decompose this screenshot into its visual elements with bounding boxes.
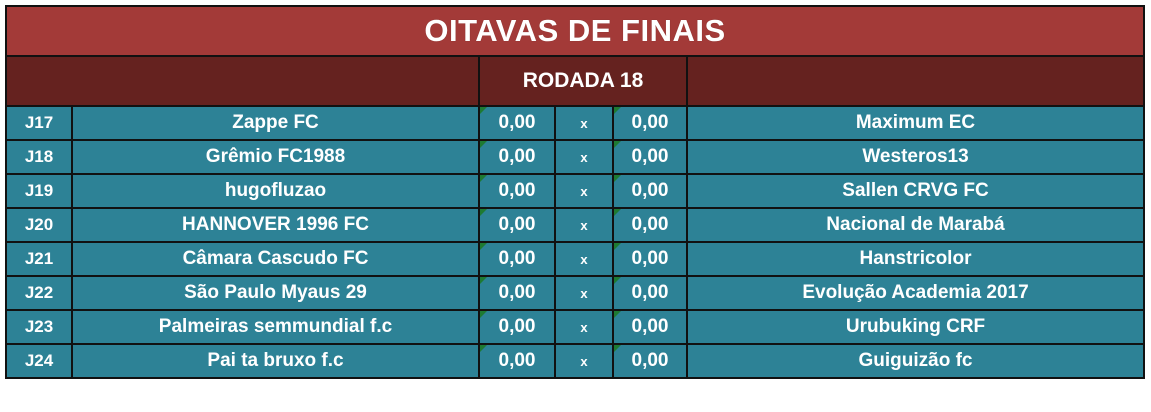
away-score-cell[interactable]: 0,00	[613, 140, 687, 174]
score-value: 0,00	[632, 282, 669, 303]
away-team-name: Urubuking CRF	[687, 310, 1144, 344]
score-value: 0,00	[632, 214, 669, 235]
home-score-cell[interactable]: 0,00	[479, 140, 555, 174]
cell-error-flag-icon	[480, 107, 487, 114]
cell-error-flag-icon	[614, 243, 621, 250]
away-score-cell[interactable]: 0,00	[613, 276, 687, 310]
match-code: J19	[6, 174, 72, 208]
match-code: J20	[6, 208, 72, 242]
versus-separator: x	[555, 106, 613, 140]
match-row: J20HANNOVER 1996 FC0,00x0,00Nacional de …	[6, 208, 1144, 242]
cell-error-flag-icon	[614, 175, 621, 182]
home-score-cell[interactable]: 0,00	[479, 208, 555, 242]
cell-error-flag-icon	[614, 141, 621, 148]
away-team-name: Maximum EC	[687, 106, 1144, 140]
away-score-cell[interactable]: 0,00	[613, 174, 687, 208]
home-team-name: Zappe FC	[72, 106, 479, 140]
versus-separator: x	[555, 174, 613, 208]
match-row: J22São Paulo Myaus 290,00x0,00Evolução A…	[6, 276, 1144, 310]
home-score-cell[interactable]: 0,00	[479, 344, 555, 378]
match-row: J19hugofluzao0,00x0,00Sallen CRVG FC	[6, 174, 1144, 208]
score-value: 0,00	[499, 350, 536, 371]
cell-error-flag-icon	[614, 345, 621, 352]
away-score-cell[interactable]: 0,00	[613, 106, 687, 140]
home-score-cell[interactable]: 0,00	[479, 310, 555, 344]
away-team-name: Westeros13	[687, 140, 1144, 174]
match-code: J17	[6, 106, 72, 140]
home-score-cell[interactable]: 0,00	[479, 174, 555, 208]
score-value: 0,00	[499, 180, 536, 201]
cell-error-flag-icon	[480, 209, 487, 216]
cell-error-flag-icon	[480, 277, 487, 284]
versus-separator: x	[555, 344, 613, 378]
away-score-cell[interactable]: 0,00	[613, 208, 687, 242]
home-team-name: São Paulo Myaus 29	[72, 276, 479, 310]
away-team-name: Nacional de Marabá	[687, 208, 1144, 242]
cell-error-flag-icon	[480, 243, 487, 250]
match-row: J21Câmara Cascudo FC0,00x0,00Hanstricolo…	[6, 242, 1144, 276]
match-code: J21	[6, 242, 72, 276]
away-score-cell[interactable]: 0,00	[613, 344, 687, 378]
home-team-name: Palmeiras semmundial f.c	[72, 310, 479, 344]
cell-error-flag-icon	[614, 209, 621, 216]
away-team-name: Evolução Academia 2017	[687, 276, 1144, 310]
versus-separator: x	[555, 140, 613, 174]
score-value: 0,00	[632, 180, 669, 201]
away-score-cell[interactable]: 0,00	[613, 242, 687, 276]
match-code: J18	[6, 140, 72, 174]
score-value: 0,00	[499, 282, 536, 303]
match-row: J18Grêmio FC19880,00x0,00Westeros13	[6, 140, 1144, 174]
cell-error-flag-icon	[614, 311, 621, 318]
cell-error-flag-icon	[480, 141, 487, 148]
versus-separator: x	[555, 310, 613, 344]
away-team-name: Sallen CRVG FC	[687, 174, 1144, 208]
score-value: 0,00	[499, 146, 536, 167]
match-row: J17Zappe FC0,00x0,00Maximum EC	[6, 106, 1144, 140]
cell-error-flag-icon	[480, 175, 487, 182]
title-row: OITAVAS DE FINAIS	[6, 6, 1144, 56]
score-value: 0,00	[499, 316, 536, 337]
round-header-row: RODADA 18	[6, 56, 1144, 106]
round-header-right-spacer	[687, 56, 1144, 106]
cell-error-flag-icon	[480, 345, 487, 352]
home-score-cell[interactable]: 0,00	[479, 242, 555, 276]
round-header-left-spacer	[6, 56, 479, 106]
match-code: J24	[6, 344, 72, 378]
score-value: 0,00	[632, 316, 669, 337]
cell-error-flag-icon	[614, 107, 621, 114]
home-team-name: Grêmio FC1988	[72, 140, 479, 174]
versus-separator: x	[555, 242, 613, 276]
page-title: OITAVAS DE FINAIS	[6, 6, 1144, 56]
score-value: 0,00	[632, 146, 669, 167]
home-team-name: hugofluzao	[72, 174, 479, 208]
home-team-name: Câmara Cascudo FC	[72, 242, 479, 276]
score-value: 0,00	[632, 248, 669, 269]
score-value: 0,00	[499, 214, 536, 235]
home-score-cell[interactable]: 0,00	[479, 276, 555, 310]
match-row: J24Pai ta bruxo f.c0,00x0,00Guiguizão fc	[6, 344, 1144, 378]
knockout-bracket-table: OITAVAS DE FINAIS RODADA 18 J17Zappe FC0…	[5, 5, 1145, 379]
match-code: J23	[6, 310, 72, 344]
match-code: J22	[6, 276, 72, 310]
away-team-name: Hanstricolor	[687, 242, 1144, 276]
score-value: 0,00	[499, 112, 536, 133]
home-score-cell[interactable]: 0,00	[479, 106, 555, 140]
home-team-name: HANNOVER 1996 FC	[72, 208, 479, 242]
cell-error-flag-icon	[614, 277, 621, 284]
versus-separator: x	[555, 208, 613, 242]
versus-separator: x	[555, 276, 613, 310]
score-value: 0,00	[632, 112, 669, 133]
round-label: RODADA 18	[479, 56, 687, 106]
home-team-name: Pai ta bruxo f.c	[72, 344, 479, 378]
score-value: 0,00	[632, 350, 669, 371]
cell-error-flag-icon	[480, 311, 487, 318]
match-row: J23Palmeiras semmundial f.c0,00x0,00Urub…	[6, 310, 1144, 344]
away-team-name: Guiguizão fc	[687, 344, 1144, 378]
score-value: 0,00	[499, 248, 536, 269]
away-score-cell[interactable]: 0,00	[613, 310, 687, 344]
